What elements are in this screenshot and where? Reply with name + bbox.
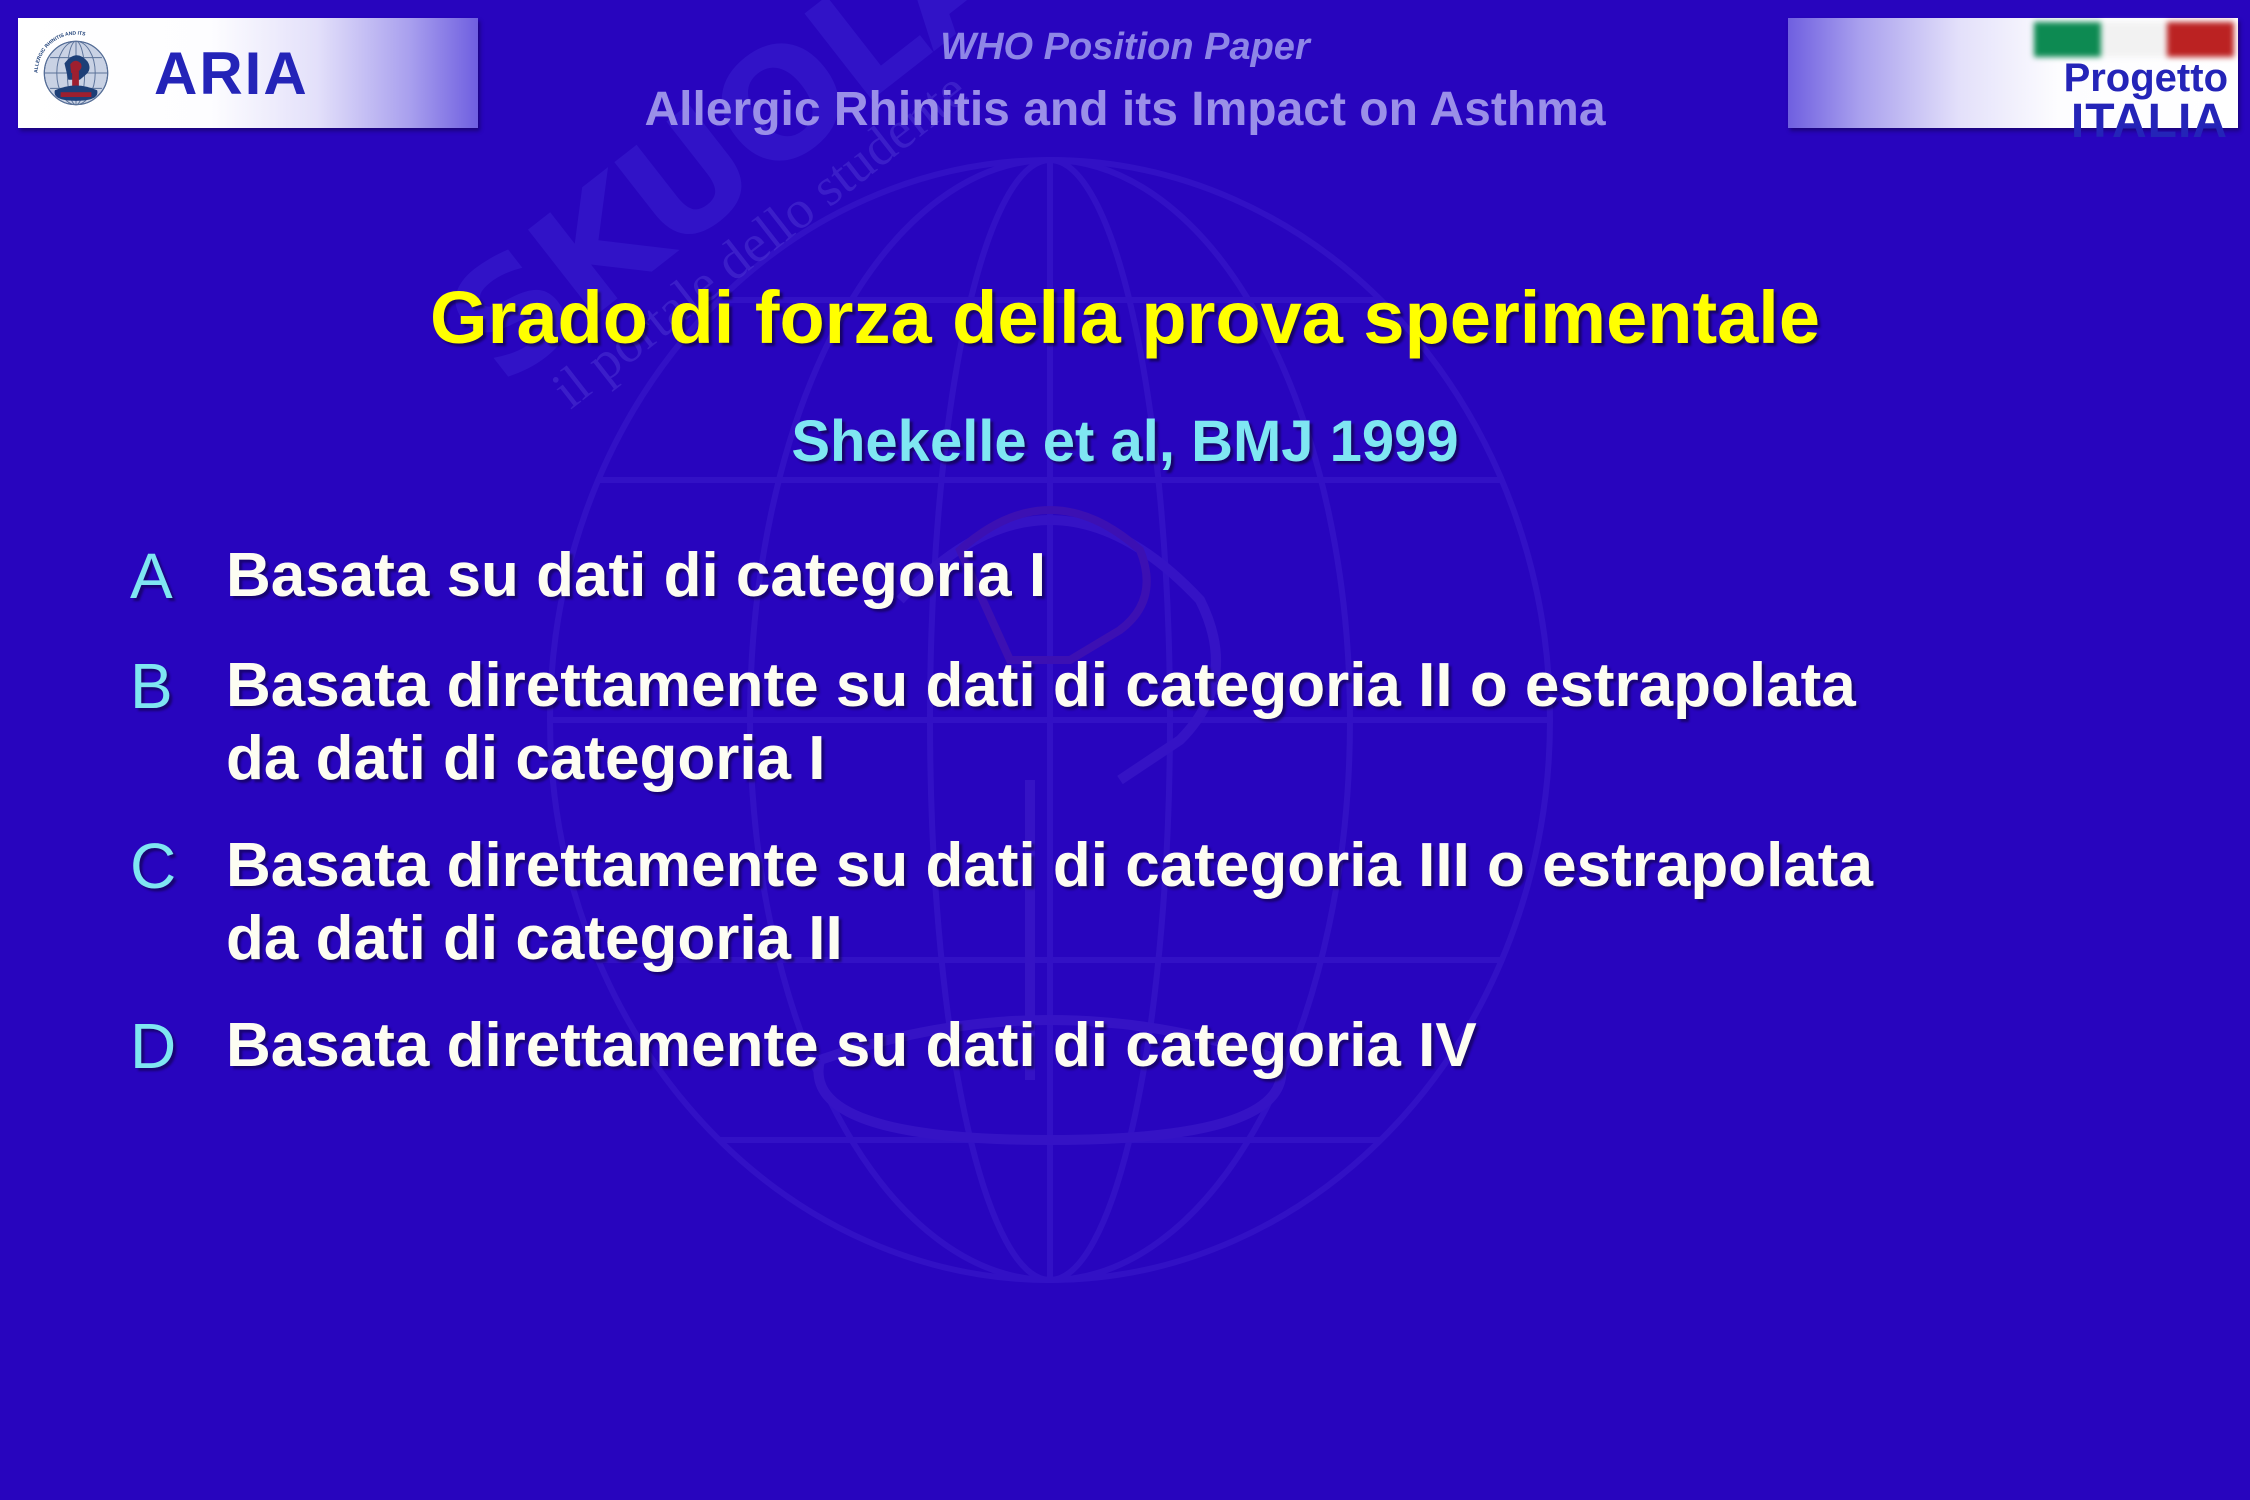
slide-subtitle-citation: Shekelle et al, BMJ 1999 bbox=[0, 408, 2250, 475]
presentation-slide: SKUOLA.net il portale dello studente bbox=[0, 0, 2250, 1500]
grade-letter-d: D bbox=[130, 1009, 226, 1085]
grade-text-d: Basata direttamente su dati di categoria… bbox=[226, 1009, 1477, 1082]
grade-letter-c: C bbox=[130, 829, 226, 905]
list-item: C Basata direttamente su dati di categor… bbox=[130, 829, 2250, 975]
list-item: B Basata direttamente su dati di categor… bbox=[130, 649, 2250, 795]
grade-text-a: Basata su dati di categoria I bbox=[226, 539, 1046, 612]
list-item: D Basata direttamente su dati di categor… bbox=[130, 1009, 2250, 1085]
list-item: A Basata su dati di categoria I bbox=[130, 539, 2250, 615]
progetto-italia-logo-plate: Progetto ITALIA bbox=[1788, 18, 2238, 128]
italia-label: ITALIA bbox=[2064, 98, 2228, 146]
progetto-label: Progetto bbox=[2064, 58, 2228, 98]
grade-letter-b: B bbox=[130, 649, 226, 725]
slide-header: ALLERGIC RHINITIS AND ITS ARIA WHO Posit… bbox=[0, 0, 2250, 160]
progetto-italia-wordmark: Progetto ITALIA bbox=[2064, 58, 2228, 146]
slide-title: Grado di forza della prova sperimentale bbox=[0, 275, 2250, 360]
evidence-grade-list: A Basata su dati di categoria I B Basata… bbox=[0, 539, 2250, 1085]
grade-text-b: Basata direttamente su dati di categoria… bbox=[226, 649, 1926, 795]
grade-letter-a: A bbox=[130, 539, 226, 615]
grade-text-c: Basata direttamente su dati di categoria… bbox=[226, 829, 1926, 975]
italian-flag-icon bbox=[2034, 22, 2234, 57]
slide-body: Grado di forza della prova sperimentale … bbox=[0, 160, 2250, 1119]
